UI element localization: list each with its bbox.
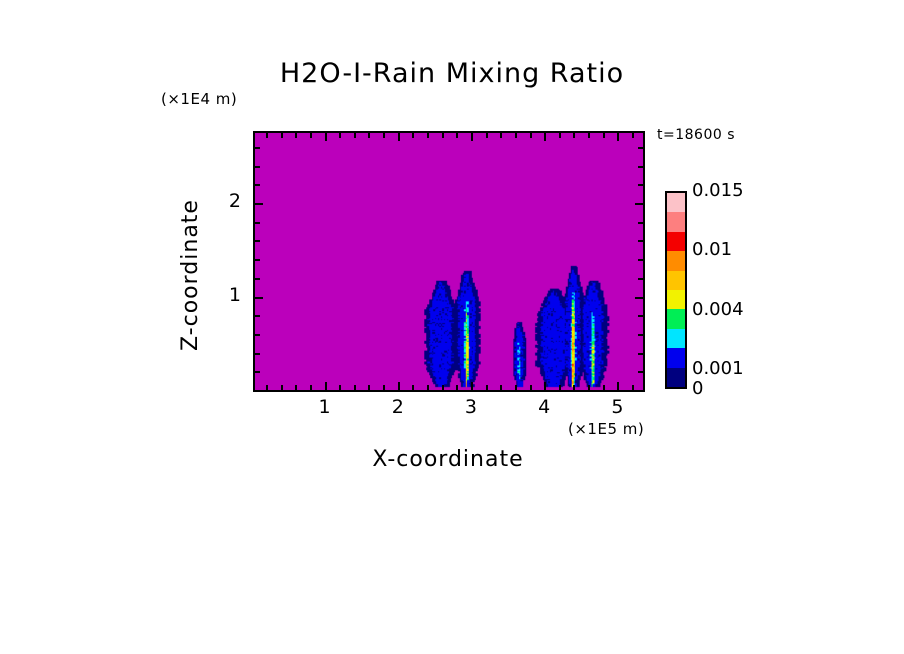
y-tick-label: 1	[215, 284, 241, 306]
axis-tick	[325, 382, 327, 390]
axis-tick	[638, 334, 643, 336]
colorbar-segment	[667, 193, 685, 212]
axis-tick	[427, 385, 429, 390]
heatmap-canvas	[255, 133, 643, 390]
axis-tick	[638, 315, 643, 317]
colorbar-tick-label: 0.001	[692, 358, 744, 379]
colorbar-segment	[667, 290, 685, 309]
axis-tick	[255, 184, 260, 186]
axis-tick	[255, 278, 260, 280]
axis-tick	[544, 382, 546, 390]
axis-tick	[368, 133, 370, 138]
axis-tick	[427, 133, 429, 138]
colorbar-segment	[667, 368, 685, 387]
axis-tick	[486, 385, 488, 390]
axis-tick	[638, 371, 643, 373]
axis-tick	[573, 133, 575, 138]
axis-tick	[500, 133, 502, 138]
axis-tick	[471, 382, 473, 390]
colorbar-tick-label: 0	[692, 378, 703, 399]
colorbar-segment	[667, 271, 685, 290]
axis-tick	[398, 382, 400, 390]
axis-tick	[617, 133, 619, 141]
axis-tick	[486, 133, 488, 138]
axis-tick	[412, 133, 414, 138]
axis-tick	[354, 133, 356, 138]
axis-tick	[354, 385, 356, 390]
axis-tick	[255, 259, 260, 261]
x-axis-title: X-coordinate	[0, 447, 900, 472]
axis-tick	[310, 385, 312, 390]
axis-tick	[588, 385, 590, 390]
axis-tick	[603, 133, 605, 138]
axis-tick	[412, 385, 414, 390]
axis-tick	[442, 133, 444, 138]
axis-tick	[638, 353, 643, 355]
page-title: H2O-I-Rain Mixing Ratio	[0, 58, 904, 89]
x-tick-label: 3	[459, 396, 483, 418]
axis-tick	[515, 385, 517, 390]
colorbar[interactable]	[665, 191, 687, 389]
axis-tick	[255, 353, 260, 355]
colorbar-segment	[667, 348, 685, 367]
colorbar-segment	[667, 232, 685, 251]
axis-tick	[638, 184, 643, 186]
axis-tick	[638, 222, 643, 224]
x-tick-label: 1	[313, 396, 337, 418]
axis-tick	[632, 133, 634, 138]
axis-tick	[603, 385, 605, 390]
axis-tick	[471, 133, 473, 141]
axis-tick	[281, 133, 283, 138]
x-axis-unit-label: (×1E5 m)	[568, 420, 644, 438]
axis-tick	[573, 385, 575, 390]
axis-tick	[339, 385, 341, 390]
axis-tick	[638, 240, 643, 242]
axis-tick	[456, 133, 458, 138]
axis-tick	[266, 385, 268, 390]
time-annotation: t=18600 s	[657, 127, 735, 143]
axis-tick	[632, 385, 634, 390]
axis-tick	[295, 133, 297, 138]
axis-tick	[635, 203, 643, 205]
axis-tick	[383, 133, 385, 138]
axis-tick	[530, 133, 532, 138]
axis-tick	[255, 222, 260, 224]
colorbar-segment	[667, 251, 685, 270]
axis-tick	[638, 147, 643, 149]
axis-tick	[559, 385, 561, 390]
axis-tick	[456, 385, 458, 390]
axis-tick	[544, 133, 546, 141]
axis-tick	[638, 166, 643, 168]
y-axis-unit-label: (×1E4 m)	[161, 90, 237, 108]
axis-tick	[310, 133, 312, 138]
axis-tick	[255, 371, 260, 373]
axis-tick	[255, 240, 260, 242]
axis-tick	[635, 297, 643, 299]
axis-tick	[255, 297, 263, 299]
axis-tick	[500, 385, 502, 390]
axis-tick	[368, 385, 370, 390]
colorbar-tick-label: 0.004	[692, 299, 744, 320]
axis-tick	[325, 133, 327, 141]
axis-tick	[559, 133, 561, 138]
axis-tick	[588, 133, 590, 138]
axis-tick	[530, 385, 532, 390]
axis-tick	[383, 385, 385, 390]
axis-tick	[638, 278, 643, 280]
colorbar-segment	[667, 329, 685, 348]
axis-tick	[295, 385, 297, 390]
axis-tick	[255, 334, 260, 336]
colorbar-segment	[667, 212, 685, 231]
axis-tick	[398, 133, 400, 141]
y-tick-label: 2	[215, 190, 241, 212]
axis-tick	[266, 133, 268, 138]
colorbar-tick-label: 0.015	[692, 180, 744, 201]
axis-tick	[339, 133, 341, 138]
axis-tick	[638, 259, 643, 261]
x-tick-label: 5	[605, 396, 629, 418]
axis-tick	[255, 203, 263, 205]
axis-tick	[281, 385, 283, 390]
colorbar-segment	[667, 309, 685, 328]
x-tick-label: 2	[386, 396, 410, 418]
axis-tick	[255, 315, 260, 317]
axis-tick	[255, 166, 260, 168]
x-tick-label: 4	[532, 396, 556, 418]
y-axis-title: Z-coordinate	[178, 155, 204, 395]
plot-area[interactable]	[253, 131, 645, 392]
axis-tick	[442, 385, 444, 390]
axis-tick	[617, 382, 619, 390]
colorbar-tick-label: 0.01	[692, 239, 732, 260]
axis-tick	[515, 133, 517, 138]
axis-tick	[255, 147, 260, 149]
